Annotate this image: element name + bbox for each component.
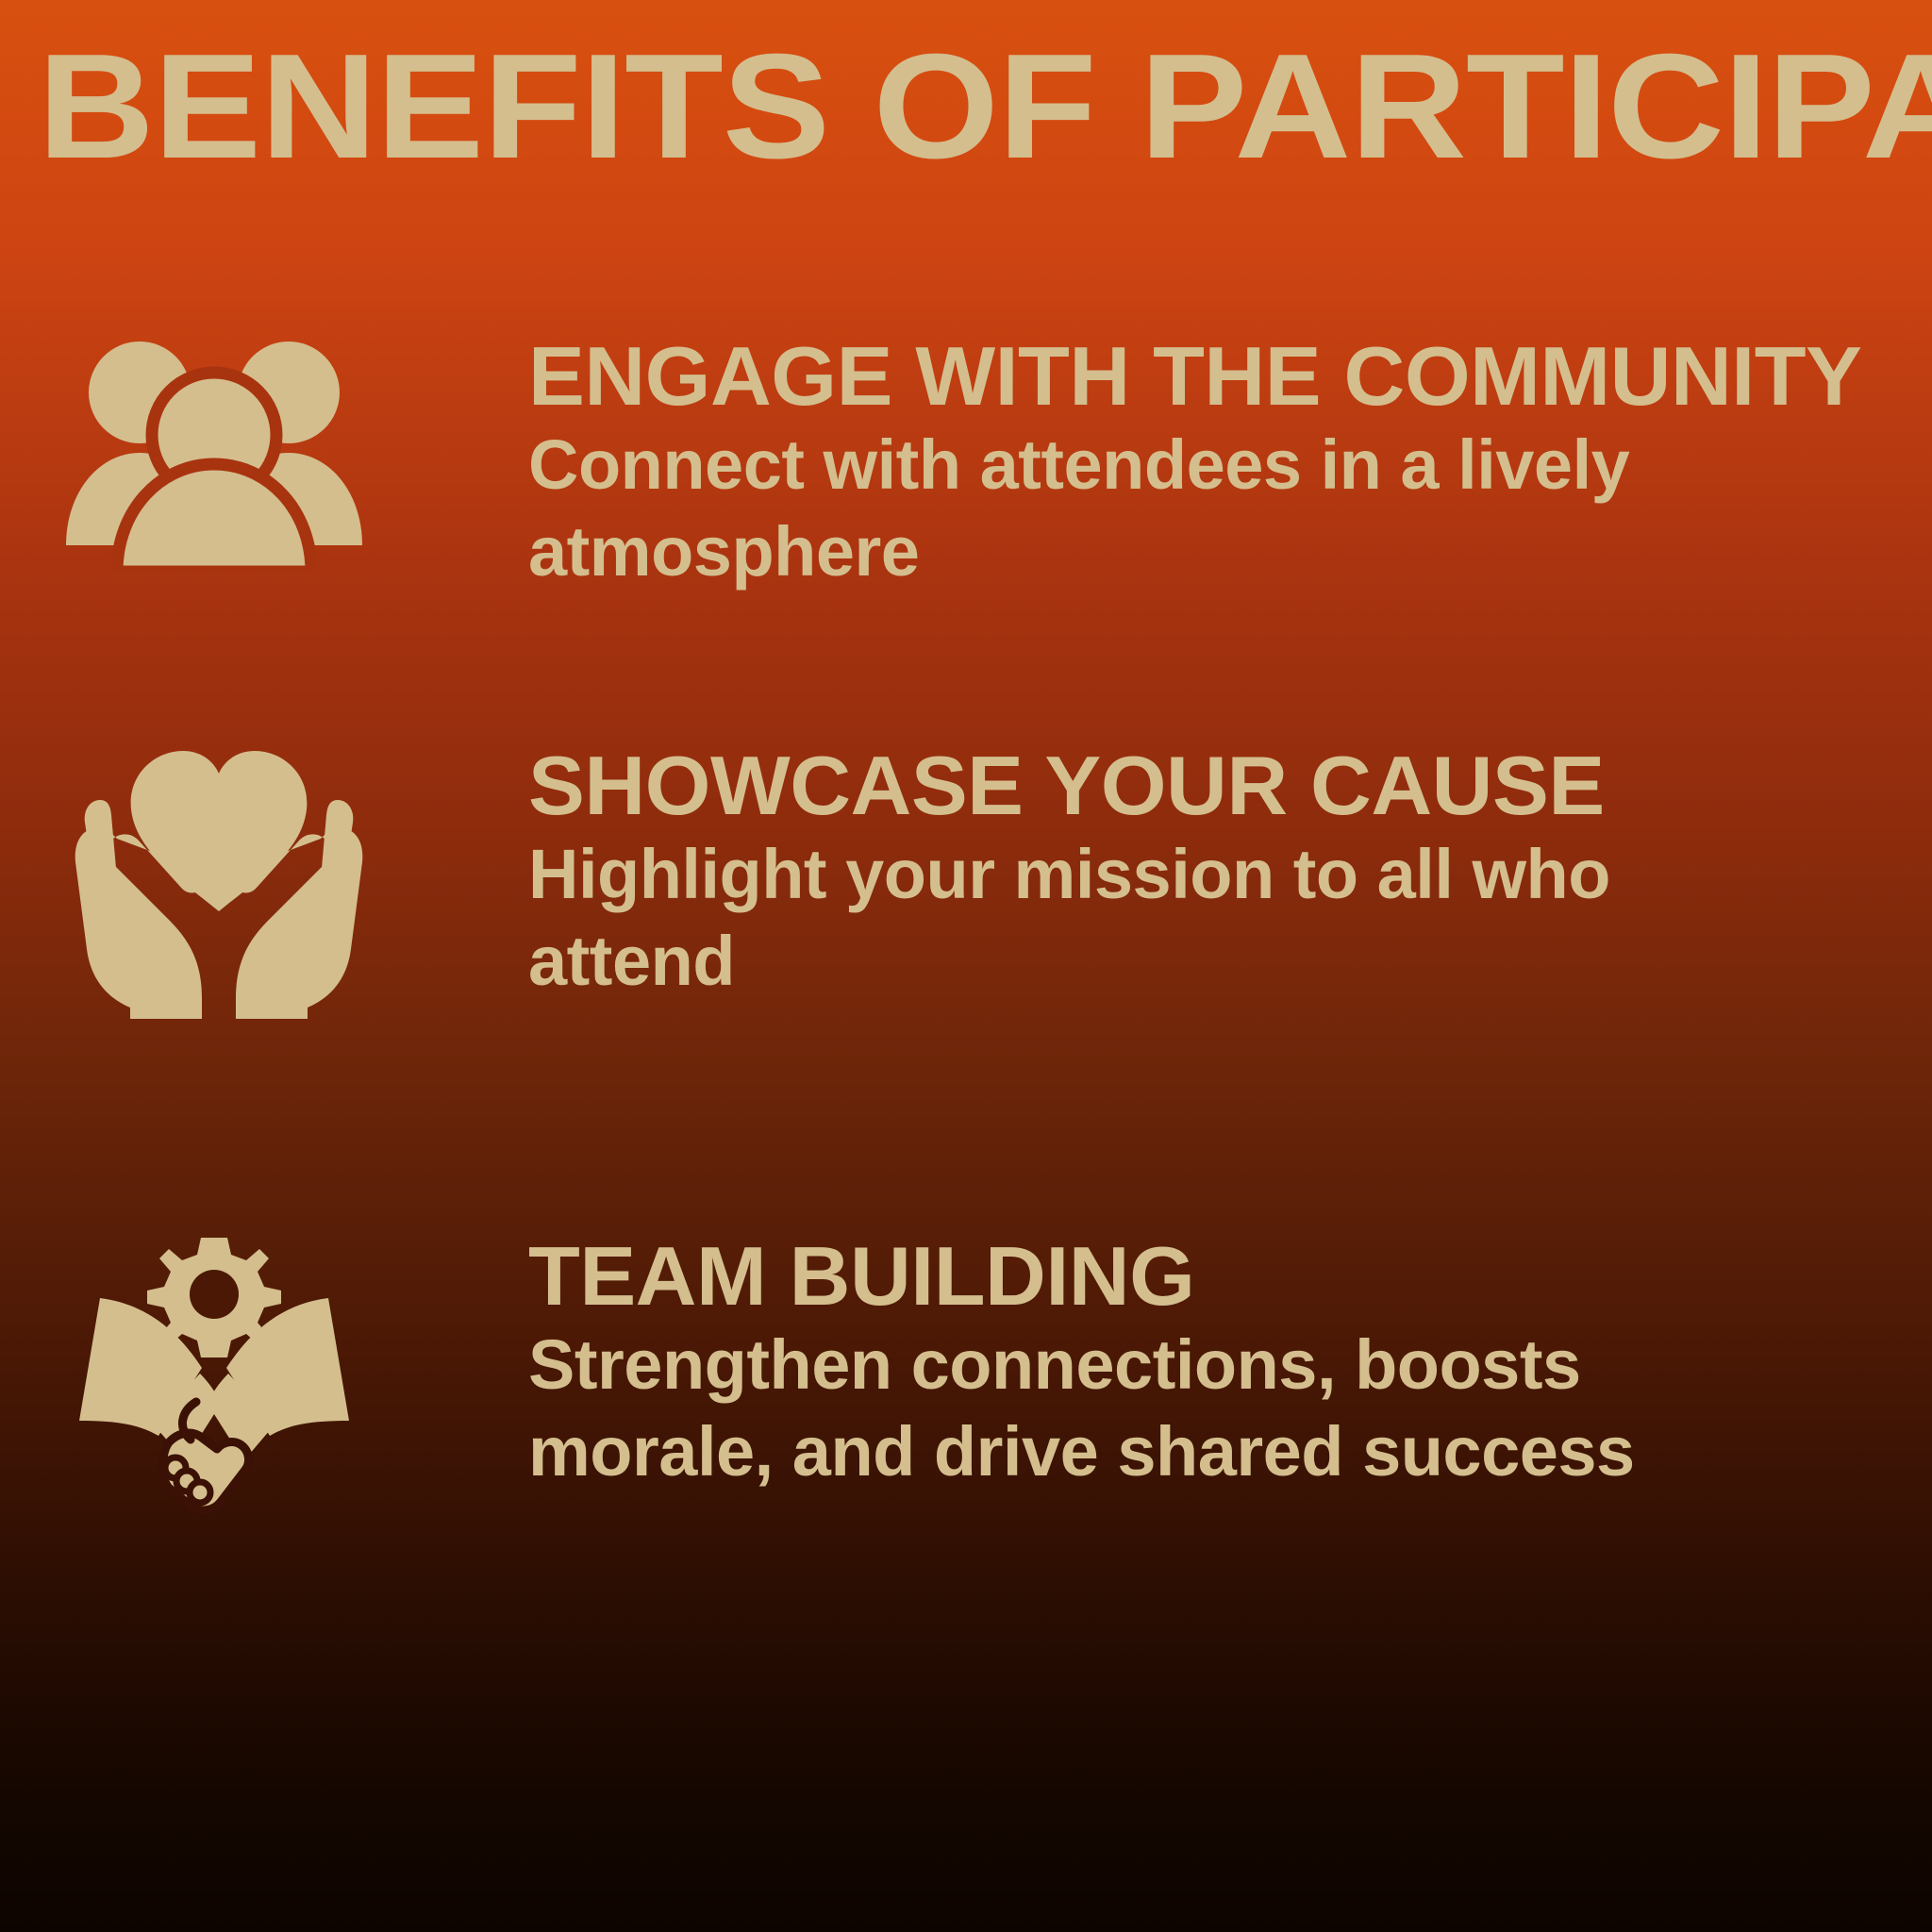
benefit-text-cell: ENGAGE WITH THE COMMUNITY Connect with a… bbox=[528, 336, 1932, 595]
benefit-body: Connect with attendees in a lively atmos… bbox=[528, 422, 1745, 595]
benefit-body: Strengthen connections, boosts morale, a… bbox=[528, 1322, 1792, 1495]
benefit-icon-cell bbox=[0, 1236, 528, 1519]
benefit-body: Highlight your mission to all who attend bbox=[528, 831, 1745, 1005]
benefit-text-cell: SHOWCASE YOUR CAUSE Highlight your missi… bbox=[528, 745, 1932, 1005]
hands-holding-heart-icon bbox=[58, 745, 379, 1019]
benefit-row: SHOWCASE YOUR CAUSE Highlight your missi… bbox=[0, 745, 1932, 1028]
benefit-icon-cell bbox=[0, 745, 528, 1028]
benefit-row: TEAM BUILDING Strengthen connections, bo… bbox=[0, 1236, 1932, 1519]
benefit-text-cell: TEAM BUILDING Strengthen connections, bo… bbox=[528, 1236, 1932, 1495]
benefit-row: ENGAGE WITH THE COMMUNITY Connect with a… bbox=[0, 336, 1932, 619]
benefit-heading: TEAM BUILDING bbox=[528, 1236, 1932, 1316]
page-title: BENEFITS OF PARTICIPATING bbox=[38, 32, 1932, 181]
benefit-heading: ENGAGE WITH THE COMMUNITY bbox=[528, 336, 1932, 416]
handshake-gear-icon bbox=[58, 1236, 370, 1519]
benefit-icon-cell bbox=[0, 336, 528, 619]
benefits-poster: BENEFITS OF PARTICIPATING ENGAGE WITH TH… bbox=[0, 0, 1932, 1932]
people-group-icon bbox=[58, 336, 370, 572]
benefit-heading: SHOWCASE YOUR CAUSE bbox=[528, 745, 1932, 825]
